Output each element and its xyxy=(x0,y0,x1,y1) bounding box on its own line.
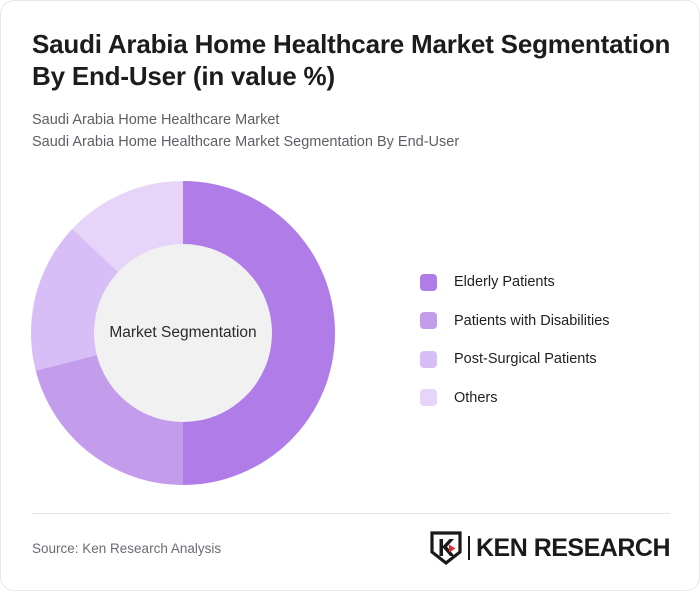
logo-divider xyxy=(468,536,470,560)
logo-wordmark: KEN RESEARCH xyxy=(476,534,670,563)
legend-label: Elderly Patients xyxy=(454,274,555,290)
chart-legend: Elderly PatientsPatients with Disabiliti… xyxy=(420,263,610,417)
subtitle-group: Saudi Arabia Home Healthcare Market Saud… xyxy=(32,110,672,154)
legend-item[interactable]: Post-Surgical Patients xyxy=(420,340,610,379)
legend-label: Others xyxy=(454,390,498,406)
ken-research-logo: KEN RESEARCH xyxy=(430,531,670,565)
footer-divider xyxy=(32,513,670,514)
donut-center: Market Segmentation xyxy=(94,244,272,422)
subtitle-segmentation: Saudi Arabia Home Healthcare Market Segm… xyxy=(32,132,672,154)
legend-swatch-icon xyxy=(420,389,437,406)
donut-center-label: Market Segmentation xyxy=(109,324,256,342)
legend-item[interactable]: Others xyxy=(420,379,610,418)
shield-k-icon xyxy=(430,531,462,565)
legend-swatch-icon xyxy=(420,351,437,368)
chart-footer: Source: Ken Research Analysis KEN RESEAR… xyxy=(32,530,670,566)
legend-label: Post-Surgical Patients xyxy=(454,351,597,367)
page-title: Saudi Arabia Home Healthcare Market Segm… xyxy=(32,29,672,92)
legend-item[interactable]: Patients with Disabilities xyxy=(420,302,610,341)
chart-header: Saudi Arabia Home Healthcare Market Segm… xyxy=(32,29,672,154)
legend-swatch-icon xyxy=(420,312,437,329)
legend-label: Patients with Disabilities xyxy=(454,313,610,329)
legend-swatch-icon xyxy=(420,274,437,291)
chart-area: Market Segmentation Elderly PatientsPati… xyxy=(1,171,700,501)
chart-card: Saudi Arabia Home Healthcare Market Segm… xyxy=(0,0,700,591)
subtitle-market: Saudi Arabia Home Healthcare Market xyxy=(32,110,672,132)
source-label: Source: Ken Research Analysis xyxy=(32,541,221,556)
legend-item[interactable]: Elderly Patients xyxy=(420,263,610,302)
donut-chart: Market Segmentation xyxy=(31,181,335,485)
